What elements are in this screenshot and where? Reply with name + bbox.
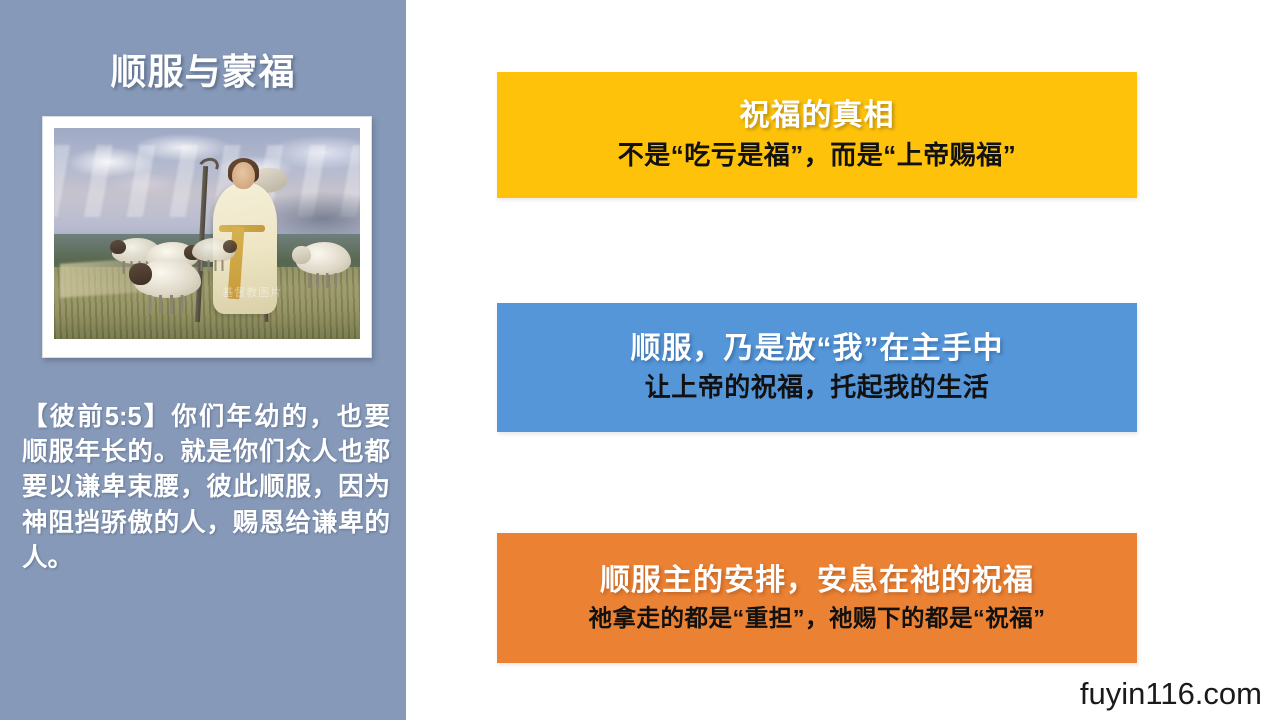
photo-watermark: 基督教图片 [222,284,282,300]
content-box-subtitle: 让上帝的祝福，托起我的生活 [645,372,990,403]
content-box-blessing-truth: 祝福的真相 不是“吃亏是福”，而是“上帝赐福” [497,72,1137,198]
shepherd-photo-frame: 基督教图片 [42,116,372,358]
scripture-verse: 【彼前5:5】你们年幼的，也要顺服年长的。就是你们众人也都要以谦卑束腰，彼此顺服… [22,400,390,576]
site-watermark: fuyin116.com [1080,676,1262,712]
page-title: 顺服与蒙福 [0,52,406,92]
content-box-heading: 顺服主的安排，安息在祂的祝福 [600,564,1034,599]
sidebar-panel: 顺服与蒙福 [0,0,406,720]
content-box-heading: 祝福的真相 [740,99,895,134]
content-box-subtitle: 不是“吃亏是福”，而是“上帝赐福” [618,140,1017,171]
sheep [134,259,201,314]
shepherd-photo: 基督教图片 [54,128,360,339]
presentation-slide: 顺服与蒙福 [0,0,1280,720]
sheep [296,242,351,288]
content-box-rest-in-blessing: 顺服主的安排，安息在祂的祝福 祂拿走的都是“重担”，祂赐下的都是“祝福” [497,533,1137,663]
content-box-subtitle: 祂拿走的都是“重担”，祂赐下的都是“祝福” [589,604,1046,632]
content-box-surrender-self: 顺服，乃是放“我”在主手中 让上帝的祝福，托起我的生活 [497,303,1137,432]
content-box-heading: 顺服，乃是放“我”在主手中 [631,332,1004,367]
shepherd-head [232,162,255,189]
